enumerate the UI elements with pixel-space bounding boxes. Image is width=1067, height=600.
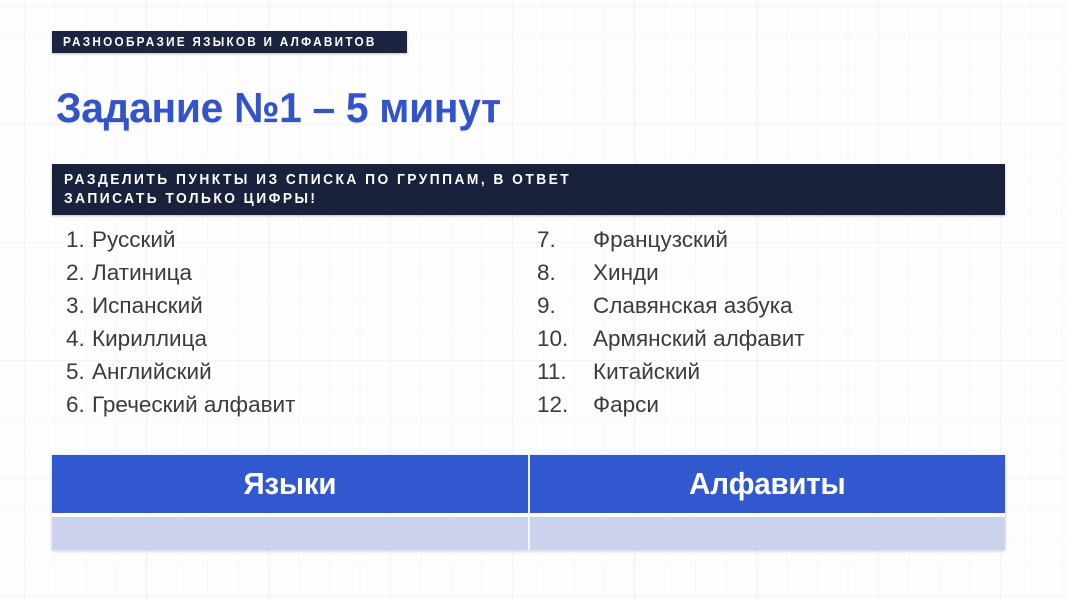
- list-item: 8. Хинди: [537, 256, 992, 289]
- list-item-number: 4.: [66, 322, 92, 355]
- kicker-label: РАЗНООБРАЗИЕ ЯЗЫКОВ И АЛФАВИТОВ: [63, 36, 377, 49]
- list-item-label: Французский: [593, 223, 728, 256]
- list-item-number: 12.: [537, 388, 593, 421]
- list-item-label: Кириллица: [92, 322, 207, 355]
- list-item-number: 8.: [537, 256, 593, 289]
- list-item: 1. Русский: [66, 223, 522, 256]
- list-item-label: Хинди: [593, 256, 659, 289]
- kicker-badge: РАЗНООБРАЗИЕ ЯЗЫКОВ И АЛФАВИТОВ: [52, 31, 407, 53]
- slide-canvas: РАЗНООБРАЗИЕ ЯЗЫКОВ И АЛФАВИТОВ Задание …: [0, 0, 1067, 600]
- list-item-number: 6.: [66, 388, 92, 421]
- list-item-number: 1.: [66, 223, 92, 256]
- answer-table-header-row: Языки Алфавиты: [52, 455, 1005, 513]
- list-item: 3. Испанский: [66, 289, 522, 322]
- list-item-label: Русский: [92, 223, 176, 256]
- answer-cell-alphabets[interactable]: [530, 517, 1006, 550]
- list-item: 4. Кириллица: [66, 322, 522, 355]
- answer-table-header-languages-label: Языки: [243, 466, 336, 502]
- list-item: 11. Китайский: [537, 355, 992, 388]
- list-item-number: 9.: [537, 289, 593, 322]
- list-item-number: 11.: [537, 355, 593, 388]
- list-item-label: Испанский: [92, 289, 203, 322]
- list-item-label: Китайский: [593, 355, 700, 388]
- list-item-number: 5.: [66, 355, 92, 388]
- items-column-left: 1. Русский 2. Латиница 3. Испанский 4. К…: [52, 223, 522, 421]
- list-item: 12. Фарси: [537, 388, 992, 421]
- list-item-number: 2.: [66, 256, 92, 289]
- items-list: 1. Русский 2. Латиница 3. Испанский 4. К…: [52, 223, 1005, 421]
- answer-table-row: [52, 517, 1005, 550]
- list-item-number: 3.: [66, 289, 92, 322]
- list-item: 6. Греческий алфавит: [66, 388, 522, 421]
- page-title: Задание №1 – 5 минут: [56, 86, 501, 130]
- list-item-label: Греческий алфавит: [92, 388, 295, 421]
- list-item: 10. Армянский алфавит: [537, 322, 992, 355]
- answer-table-header-alphabets-label: Алфавиты: [689, 466, 845, 502]
- answer-cell-languages[interactable]: [52, 517, 530, 550]
- list-item: 2. Латиница: [66, 256, 522, 289]
- instruction-line-1: РАЗДЕЛИТЬ ПУНКТЫ ИЗ СПИСКА ПО ГРУППАМ, В…: [64, 171, 947, 190]
- list-item-number: 10.: [537, 322, 593, 355]
- instruction-line-2: ЗАПИСАТЬ ТОЛЬКО ЦИФРЫ!: [64, 190, 947, 209]
- list-item-label: Армянский алфавит: [593, 322, 805, 355]
- answer-table: Языки Алфавиты: [52, 455, 1005, 550]
- list-item-label: Английский: [92, 355, 212, 388]
- instruction-bar: РАЗДЕЛИТЬ ПУНКТЫ ИЗ СПИСКА ПО ГРУППАМ, В…: [52, 164, 1005, 215]
- list-item: 7. Французский: [537, 223, 992, 256]
- list-item: 5. Английский: [66, 355, 522, 388]
- items-column-right: 7. Французский 8. Хинди 9. Славянская аз…: [522, 223, 992, 421]
- list-item-label: Латиница: [92, 256, 192, 289]
- list-item-label: Славянская азбука: [593, 289, 793, 322]
- list-item: 9. Славянская азбука: [537, 289, 992, 322]
- answer-table-header-languages: Языки: [52, 455, 530, 513]
- answer-table-header-alphabets: Алфавиты: [530, 455, 1006, 513]
- list-item-number: 7.: [537, 223, 593, 256]
- list-item-label: Фарси: [593, 388, 659, 421]
